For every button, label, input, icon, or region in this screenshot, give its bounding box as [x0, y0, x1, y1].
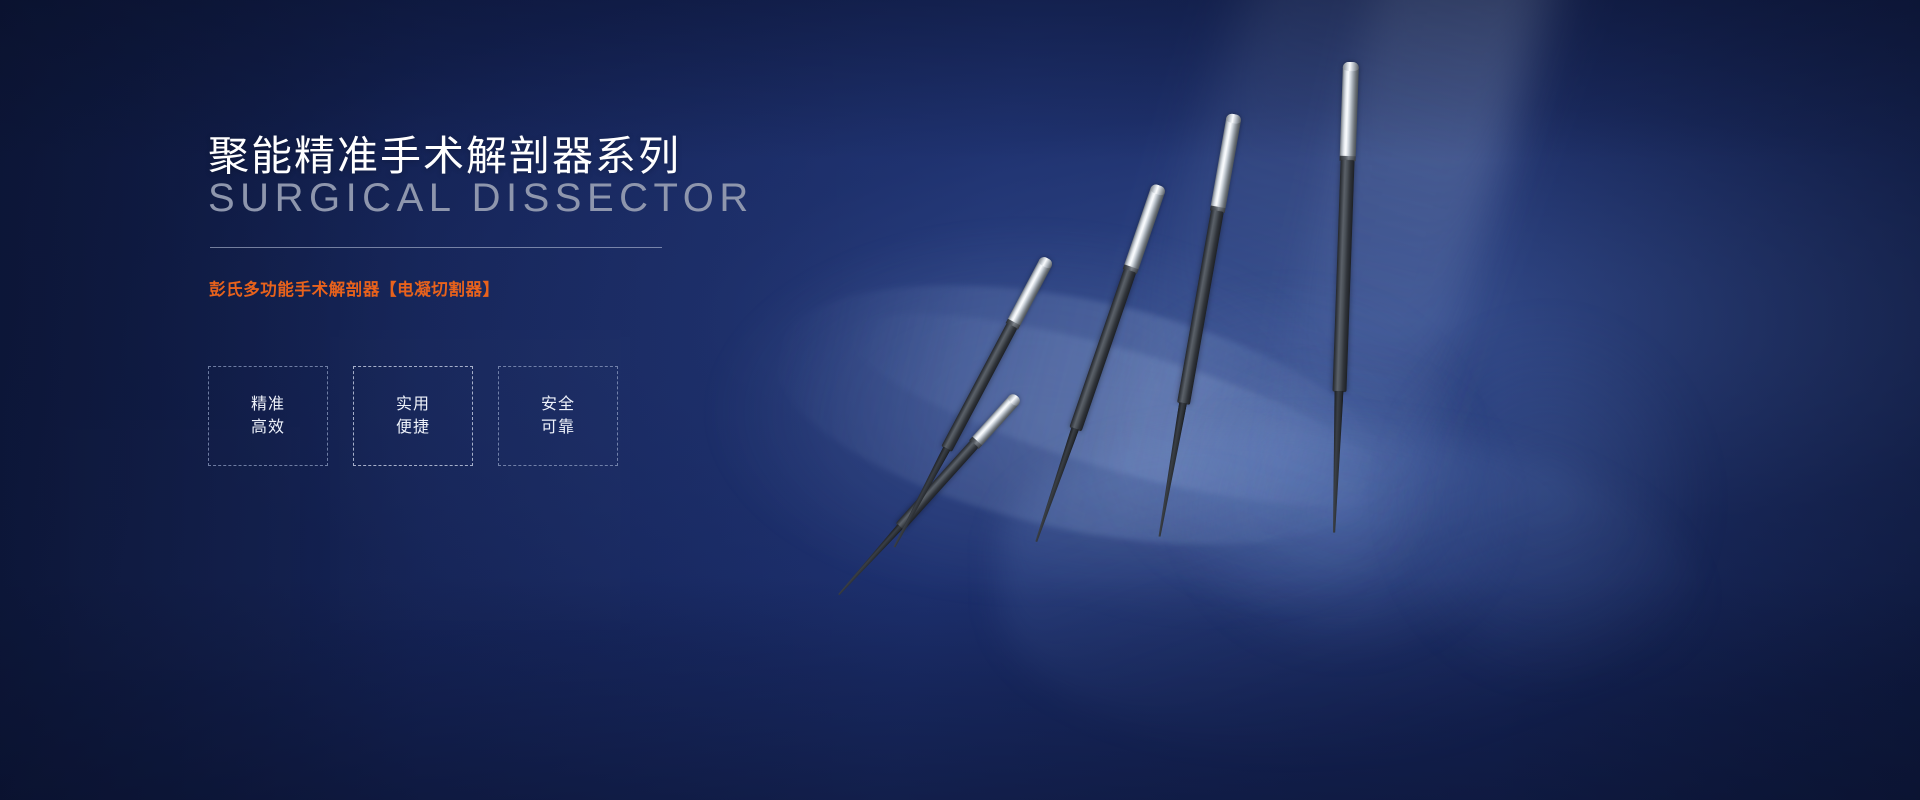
title-divider: [210, 247, 662, 248]
feature-line-1: 安全: [541, 397, 575, 413]
feature-box-precision[interactable]: 精准 高效: [208, 366, 328, 466]
feature-box-practical[interactable]: 实用 便捷: [353, 366, 473, 466]
feature-line-1: 实用: [396, 397, 430, 413]
product-hero-banner: 聚能精准手术解剖器系列 SURGICAL DISSECTOR 彭氏多功能手术解剖…: [0, 0, 1920, 800]
page-subtitle-english: SURGICAL DISSECTOR: [208, 176, 754, 221]
product-name-label: 彭氏多功能手术解剖器【电凝切割器】: [209, 276, 500, 300]
feature-box-safety[interactable]: 安全 可靠: [498, 366, 618, 466]
page-title: 聚能精准手术解剖器系列: [208, 122, 681, 182]
feature-line-2: 高效: [251, 420, 285, 436]
feature-line-2: 可靠: [541, 420, 575, 436]
feature-line-2: 便捷: [396, 420, 430, 436]
feature-box-group: 精准 高效 实用 便捷 安全 可靠: [208, 366, 618, 466]
banner-text-column: 聚能精准手术解剖器系列 SURGICAL DISSECTOR 彭氏多功能手术解剖…: [208, 0, 848, 800]
feature-line-1: 精准: [251, 397, 285, 413]
